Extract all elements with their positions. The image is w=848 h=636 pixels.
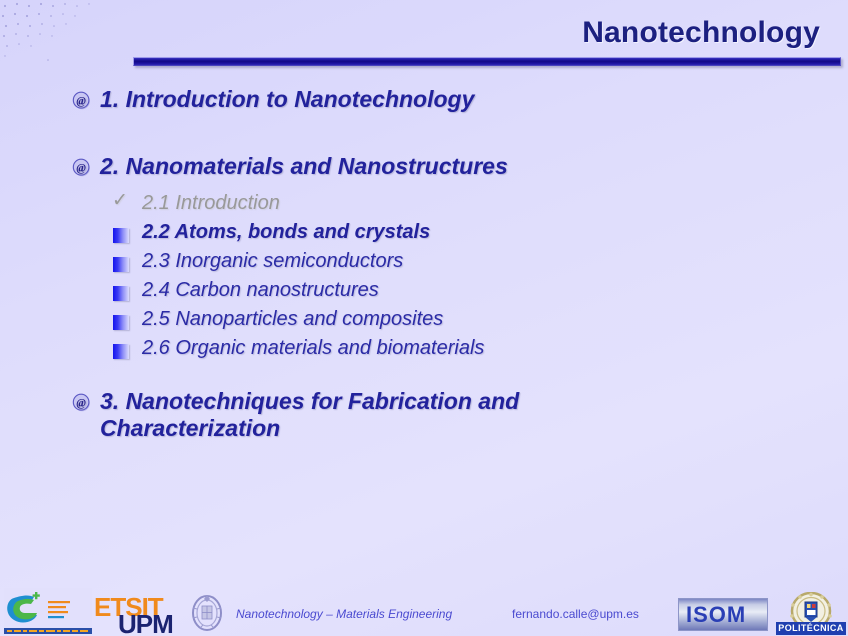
- bar-bullet-icon: [113, 286, 129, 301]
- presentation-slide: Nanotechnology @ 1. Introduction to Nano…: [0, 0, 848, 636]
- outline-item-2-1-label: 2.1 Introduction: [142, 192, 280, 214]
- at-bullet-icon: @: [72, 158, 91, 177]
- slide-title: Nanotechnology: [582, 16, 820, 50]
- footer-course-label: Nanotechnology – Materials Engineering: [236, 607, 452, 621]
- svg-text:@: @: [76, 163, 86, 175]
- bar-bullet-icon: [113, 344, 129, 359]
- outline-item-2-1[interactable]: ✓ 2.1 Introduction: [0, 193, 848, 213]
- outline-section-1-label: 1. Introduction to Nanotechnology: [100, 86, 474, 112]
- outline-item-2-5[interactable]: 2.5 Nanoparticles and composites: [0, 309, 848, 329]
- isom-wordmark: ISOM: [686, 602, 746, 628]
- outline-item-2-3-label: 2.3 Inorganic semiconductors: [142, 250, 403, 272]
- check-bullet-icon: ✓: [112, 191, 128, 210]
- outline-list: @ 1. Introduction to Nanotechnology @ 2.…: [0, 86, 848, 443]
- upm-wordmark: UPM: [118, 609, 173, 636]
- upm-seal-icon: [186, 592, 228, 634]
- isom-logo: ISOM: [678, 598, 768, 631]
- at-bullet-icon: @: [72, 393, 91, 412]
- outline-item-2-4[interactable]: 2.4 Carbon nanostructures: [0, 280, 848, 300]
- outline-item-2-4-label: 2.4 Carbon nanostructures: [142, 279, 379, 301]
- outline-item-2-2-label: 2.2 Atoms, bonds and crystals: [142, 221, 430, 243]
- outline-item-2-5-label: 2.5 Nanoparticles and composites: [142, 308, 443, 330]
- politecnica-label: POLITÉCNICA: [776, 622, 846, 635]
- outline-section-3[interactable]: @ 3. Nanotechniques for Fabrication and …: [0, 388, 848, 442]
- svg-text:@: @: [76, 96, 86, 108]
- outline-gap: [0, 271, 848, 280]
- outline-section-2[interactable]: @ 2. Nanomaterials and Nanostructures: [0, 153, 848, 180]
- outline-item-2-3[interactable]: 2.3 Inorganic semiconductors: [0, 251, 848, 271]
- footer-email-label: fernando.calle@upm.es: [512, 607, 639, 621]
- outline-section-2-label: 2. Nanomaterials and Nanostructures: [100, 153, 508, 179]
- outline-item-2-6-label: 2.6 Organic materials and biomaterials: [142, 337, 484, 359]
- outline-section-1[interactable]: @ 1. Introduction to Nanotechnology: [0, 86, 848, 113]
- outline-section-3-label-line2: Characterization: [100, 415, 280, 441]
- bar-bullet-icon: [113, 315, 129, 330]
- outline-item-2-2[interactable]: 2.2 Atoms, bonds and crystals: [0, 222, 848, 242]
- outline-item-2-6[interactable]: 2.6 Organic materials and biomaterials: [0, 338, 848, 358]
- outline-gap: [0, 358, 848, 388]
- outline-section-3-label-line1: 3. Nanotechniques for Fabrication and: [100, 388, 519, 414]
- at-bullet-icon: @: [72, 91, 91, 110]
- etsit-upm-logo: ETSIT UPM: [92, 592, 188, 634]
- title-divider-rule: [133, 57, 841, 66]
- outline-gap: [0, 242, 848, 251]
- decorative-dot-pattern: [0, 0, 130, 70]
- bar-bullet-icon: [113, 257, 129, 272]
- svg-text:@: @: [76, 398, 86, 410]
- bar-bullet-icon: [113, 228, 129, 243]
- campus-excelencia-logo: [4, 588, 92, 634]
- outline-gap: [0, 113, 848, 153]
